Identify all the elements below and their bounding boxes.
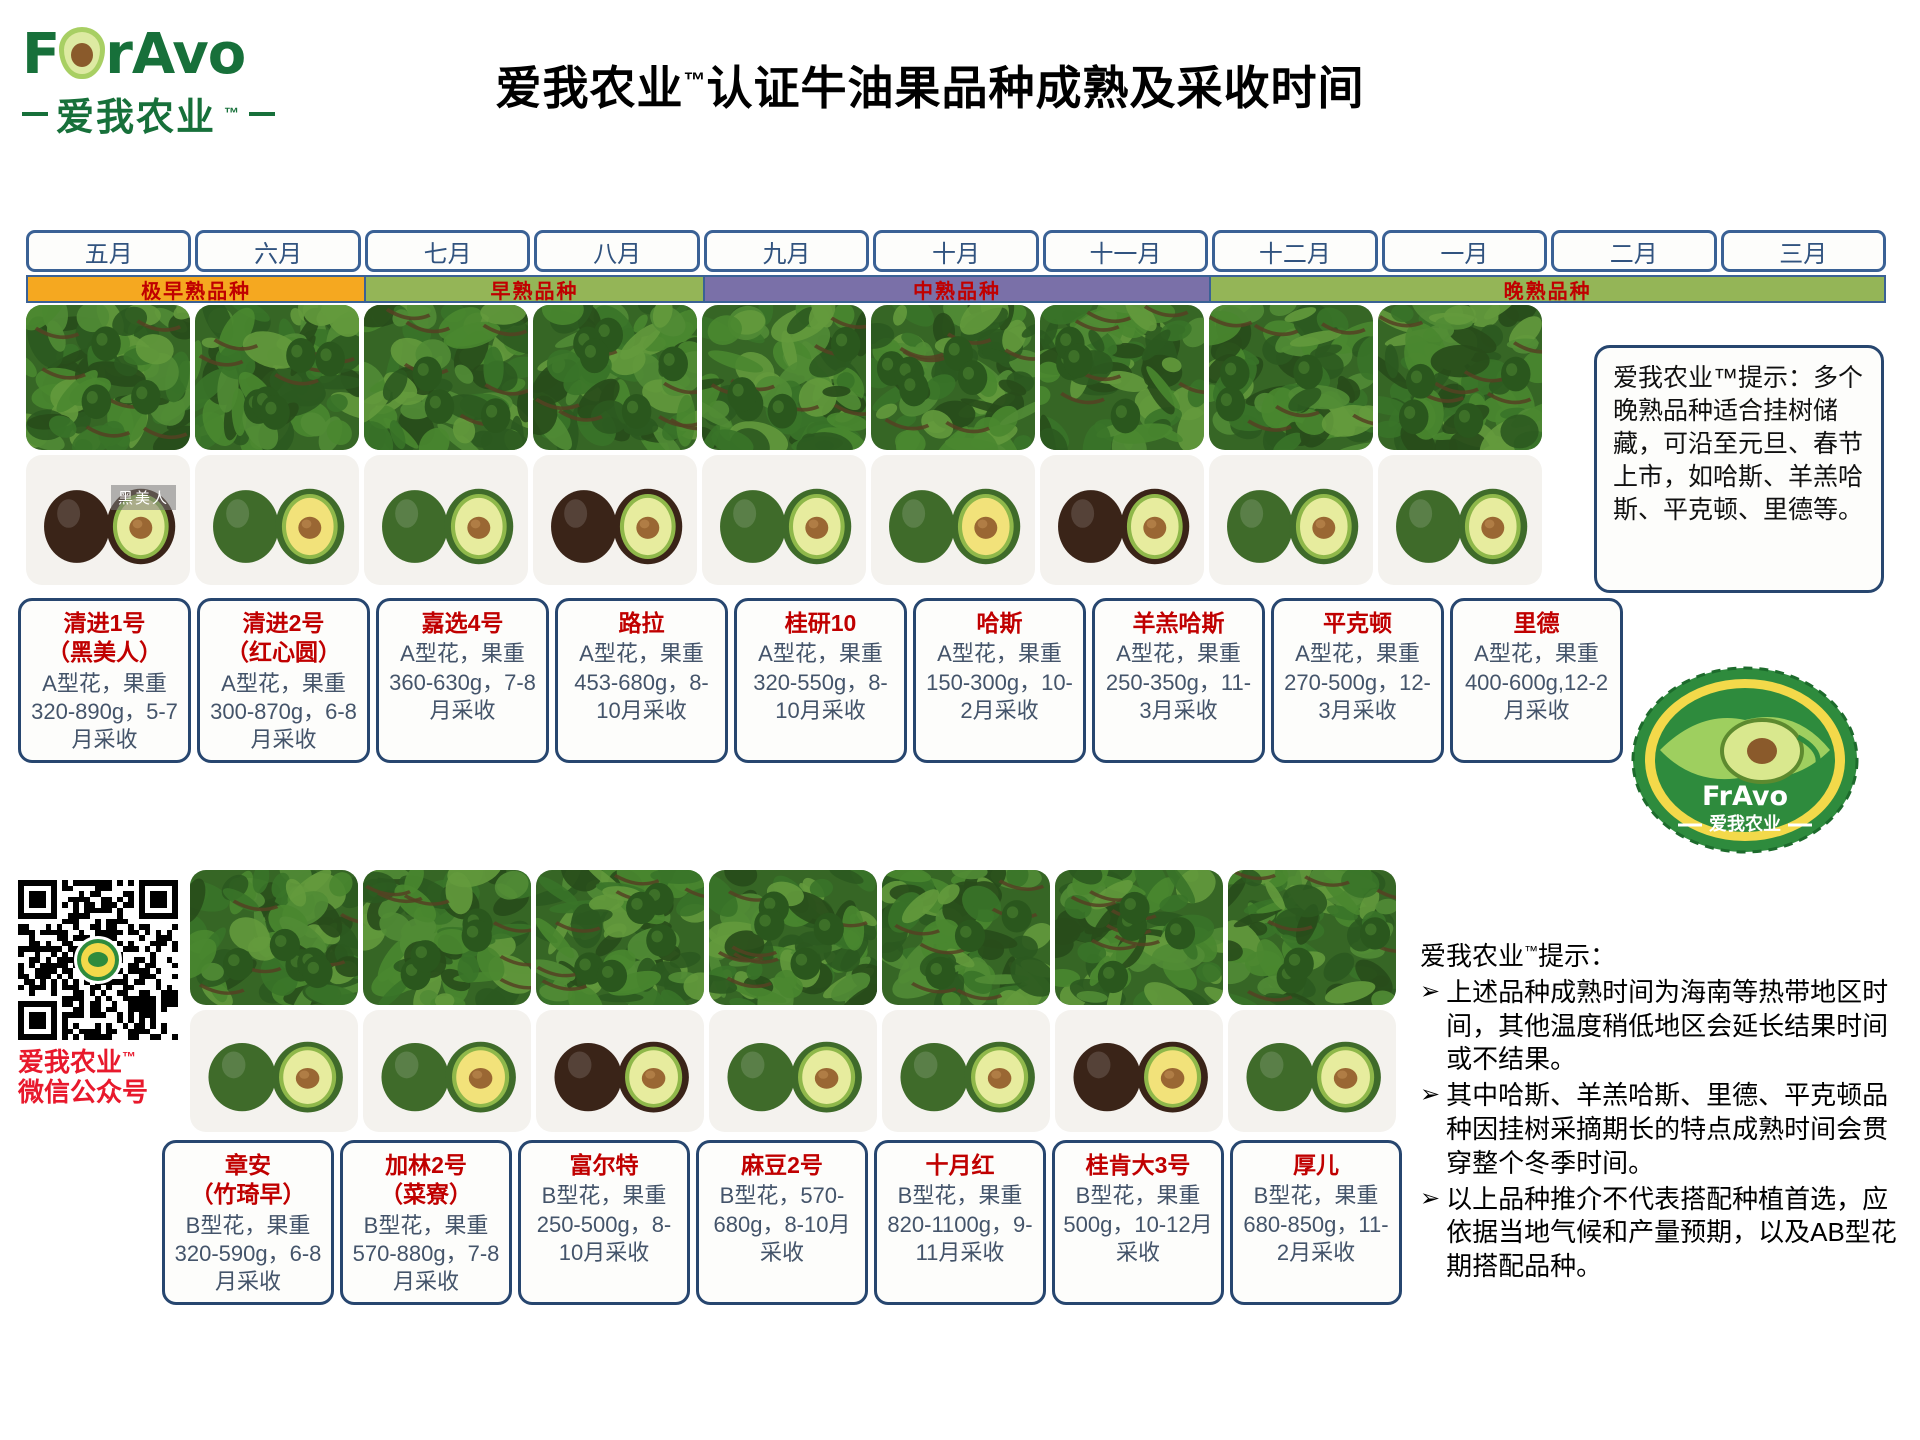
avocado-tree-photo-7 — [1040, 305, 1204, 450]
season-segment: 极早熟品种 — [28, 277, 366, 301]
avocado-fruit-photo-10 — [190, 1010, 358, 1132]
variety-card[interactable]: 麻豆2号B型花，570-680g，8-10月采收 — [696, 1140, 868, 1305]
row2-fruit-photo-strip — [190, 1010, 1396, 1132]
variety-card[interactable]: 嘉选4号A型花，果重360-630g，7-8月采收 — [376, 598, 549, 763]
variety-description: A型花，果重360-630g，7-8月采收 — [385, 640, 540, 724]
variety-card[interactable]: 十月红B型花，果重820-1100g，9-11月采收 — [874, 1140, 1046, 1305]
season-segment: 早熟品种 — [366, 277, 704, 301]
avocado-tree-photo-2 — [195, 305, 359, 450]
badge-graphic: FrAvo 爱我农业 — [1630, 665, 1860, 855]
notes-heading-part1: 爱我农业 — [1420, 941, 1524, 971]
note-text: 上述品种成熟时间为海南等热带地区时间，其他温度稍低地区会延长结果时间或不结果。 — [1446, 976, 1910, 1077]
variety-name: 哈斯 — [922, 609, 1077, 638]
arrow-bullet-icon: ➢ — [1420, 976, 1440, 1077]
variety-alias: （竹琦早） — [171, 1180, 325, 1209]
logo-rule-right — [249, 112, 275, 116]
variety-description: A型花，果重320-890g，5-7月采收 — [27, 670, 182, 754]
arrow-bullet-icon: ➢ — [1420, 1183, 1440, 1284]
variety-description: A型花，果重300-870g，6-8月采收 — [206, 670, 361, 754]
avocado-fruit-photo-14 — [882, 1010, 1050, 1132]
month-header-row: 五月六月七月八月九月十月十一月十二月一月二月三月 — [26, 230, 1886, 272]
variety-description: A型花，果重270-500g，12-3月采收 — [1280, 640, 1435, 724]
variety-card[interactable]: 哈斯A型花，果重150-300g，10-2月采收 — [913, 598, 1086, 763]
wechat-qr-code[interactable] — [18, 880, 178, 1040]
month-cell: 六月 — [195, 230, 360, 272]
avocado-fruit-photo-8 — [1209, 455, 1373, 585]
variety-name: 富尔特 — [527, 1151, 681, 1180]
variety-name: 羊羔哈斯 — [1101, 609, 1256, 638]
variety-alias: （黑美人） — [27, 638, 182, 667]
variety-name: 厚儿 — [1239, 1151, 1393, 1180]
avocado-fruit-photo-4 — [533, 455, 697, 585]
svg-text:爱我农业: 爱我农业 — [1709, 813, 1781, 835]
variety-card[interactable]: 桂肯大3号B型花，果重500g，10-12月采收 — [1052, 1140, 1224, 1305]
avocado-tree-photo-1 — [26, 305, 190, 450]
variety-name: 桂研10 — [743, 609, 898, 638]
notes-heading-tm: ™ — [1524, 942, 1538, 958]
month-cell: 十月 — [873, 230, 1038, 272]
variety-description: B型花，570-680g，8-10月采收 — [705, 1182, 859, 1266]
month-cell: 九月 — [704, 230, 869, 272]
variety-name: 桂肯大3号 — [1061, 1151, 1215, 1180]
month-cell: 八月 — [534, 230, 699, 272]
variety-name: 路拉 — [564, 609, 719, 638]
variety-name: 里德 — [1459, 609, 1614, 638]
variety-name: 章安 — [171, 1151, 325, 1180]
variety-description: A型花，果重150-300g，10-2月采收 — [922, 640, 1077, 724]
avocado-o-icon — [59, 27, 105, 79]
variety-description: B型花，果重820-1100g，9-11月采收 — [883, 1182, 1037, 1266]
note-item: ➢以上品种推介不代表搭配种植首选，应依据当地气候和产量预期，以及AB型花期搭配品… — [1420, 1183, 1910, 1284]
page-title-part1: 爱我农业 — [496, 62, 684, 114]
variety-description: B型花，果重680-850g，11-2月采收 — [1239, 1182, 1393, 1266]
logo-word-post: rAvo — [105, 22, 245, 87]
avocado-fruit-photo-11 — [363, 1010, 531, 1132]
avocado-fruit-photo-7 — [1040, 455, 1204, 585]
logo-wordmark: F rAvo — [22, 26, 292, 84]
avocado-tree-photo-3 — [364, 305, 528, 450]
logo-tm-mark: ™ — [224, 105, 241, 122]
avocado-tree-photo-14 — [882, 870, 1050, 1005]
variety-description: A型花，果重400-600g,12-2月采收 — [1459, 640, 1614, 724]
qr-label-tm: ™ — [122, 1048, 136, 1064]
wechat-qr-block: 爱我农业™ 微信公众号 — [18, 880, 193, 1108]
notes-list: ➢上述品种成熟时间为海南等热带地区时间，其他温度稍低地区会延长结果时间或不结果。… — [1420, 976, 1910, 1284]
row2-variety-card-row: 章安（竹琦早）B型花，果重320-590g，6-8月采收加林2号（菜寮）B型花，… — [162, 1140, 1402, 1305]
note-text: 以上品种推介不代表搭配种植首选，应依据当地气候和产量预期，以及AB型花期搭配品种… — [1446, 1183, 1910, 1284]
avocado-tree-photo-11 — [363, 870, 531, 1005]
variety-card[interactable]: 里德A型花，果重400-600g,12-2月采收 — [1450, 598, 1623, 763]
month-cell: 一月 — [1382, 230, 1547, 272]
avocado-fruit-photo-3 — [364, 455, 528, 585]
arrow-bullet-icon: ➢ — [1420, 1079, 1440, 1180]
avocado-tree-photo-16 — [1228, 870, 1396, 1005]
variety-card[interactable]: 富尔特B型花，果重250-500g，8-10月采收 — [518, 1140, 690, 1305]
row1-variety-card-row: 清进1号（黑美人）A型花，果重320-890g，5-7月采收清进2号（红心圆）A… — [18, 598, 1623, 763]
maturity-season-bar: 极早熟品种早熟品种中熟品种晚熟品种 — [26, 275, 1886, 303]
variety-card[interactable]: 平克顿A型花，果重270-500g，12-3月采收 — [1271, 598, 1444, 763]
notes-heading-part2: 提示： — [1538, 941, 1616, 971]
month-cell: 十二月 — [1212, 230, 1377, 272]
wechat-qr-label: 爱我农业™ 微信公众号 — [18, 1048, 193, 1108]
variety-card[interactable]: 加林2号（菜寮）B型花，果重570-880g，7-8月采收 — [340, 1140, 512, 1305]
svg-text:FrAvo: FrAvo — [1702, 781, 1788, 812]
season-segment: 晚熟品种 — [1211, 277, 1884, 301]
month-cell: 三月 — [1721, 230, 1886, 272]
logo-cn-text: 爱我农业 — [56, 86, 216, 141]
variety-alias: （红心圆） — [206, 638, 361, 667]
avocado-fruit-photo-15 — [1055, 1010, 1223, 1132]
variety-name: 清进1号 — [27, 609, 182, 638]
variety-description: B型花，果重500g，10-12月采收 — [1061, 1182, 1215, 1266]
badge-word-pre: F — [1702, 781, 1719, 812]
variety-name: 清进2号 — [206, 609, 361, 638]
variety-card[interactable]: 桂研10A型花，果重320-550g，8-10月采收 — [734, 598, 907, 763]
variety-card[interactable]: 清进1号（黑美人）A型花，果重320-890g，5-7月采收 — [18, 598, 191, 763]
avocado-fruit-photo-6 — [871, 455, 1035, 585]
page-title: 爱我农业™认证牛油果品种成熟及采收时间 — [330, 52, 1530, 118]
note-item: ➢上述品种成熟时间为海南等热带地区时间，其他温度稍低地区会延长结果时间或不结果。 — [1420, 976, 1910, 1077]
variety-description: A型花，果重250-350g，11-3月采收 — [1101, 640, 1256, 724]
variety-card[interactable]: 路拉A型花，果重453-680g，8-10月采收 — [555, 598, 728, 763]
avocado-tree-photo-5 — [702, 305, 866, 450]
avocado-fruit-photo-12 — [536, 1010, 704, 1132]
season-segment: 中熟品种 — [705, 277, 1212, 301]
variety-alias: （菜寮） — [349, 1180, 503, 1209]
notes-heading: 爱我农业™提示： — [1420, 940, 1910, 974]
variety-name: 嘉选4号 — [385, 609, 540, 638]
logo-word-pre: F — [22, 22, 59, 87]
month-cell: 二月 — [1551, 230, 1716, 272]
row2-tree-photo-strip — [190, 870, 1396, 1005]
avocado-fruit-photo-2 — [195, 455, 359, 585]
avocado-fruit-photo-16 — [1228, 1010, 1396, 1132]
avocado-tree-photo-12 — [536, 870, 704, 1005]
variety-description: B型花，果重570-880g，7-8月采收 — [349, 1212, 503, 1296]
variety-card[interactable]: 羊羔哈斯A型花，果重250-350g，11-3月采收 — [1092, 598, 1265, 763]
brand-logo: F rAvo 爱我农业™ — [22, 26, 292, 146]
variety-card[interactable]: 章安（竹琦早）B型花，果重320-590g，6-8月采收 — [162, 1140, 334, 1305]
month-cell: 五月 — [26, 230, 191, 272]
variety-description: A型花，果重320-550g，8-10月采收 — [743, 640, 898, 724]
variety-name: 加林2号 — [349, 1151, 503, 1180]
late-variety-tip-box: 爱我农业™提示：多个晚熟品种适合挂树储藏，可沿至元旦、春节上市，如哈斯、羊羔哈斯… — [1594, 345, 1884, 593]
variety-description: B型花，果重250-500g，8-10月采收 — [527, 1182, 681, 1266]
avocado-fruit-photo-9 — [1378, 455, 1542, 585]
avocado-fruit-photo-1: 黑美人 — [26, 455, 190, 585]
note-text: 其中哈斯、羊羔哈斯、里德、平克顿品种因挂树采摘期长的特点成熟时间会贯穿整个冬季时… — [1446, 1079, 1910, 1180]
footer-notes: 爱我农业™提示： ➢上述品种成熟时间为海南等热带地区时间，其他温度稍低地区会延长… — [1420, 940, 1910, 1286]
variety-card[interactable]: 厚儿B型花，果重680-850g，11-2月采收 — [1230, 1140, 1402, 1305]
avocado-tree-photo-15 — [1055, 870, 1223, 1005]
note-item: ➢其中哈斯、羊羔哈斯、里德、平克顿品种因挂树采摘期长的特点成熟时间会贯穿整个冬季… — [1420, 1079, 1910, 1180]
tip-box-text: 爱我农业™提示：多个晚熟品种适合挂树储藏，可沿至元旦、春节上市，如哈斯、羊羔哈斯… — [1613, 364, 1863, 524]
variety-card[interactable]: 清进2号（红心圆）A型花，果重300-870g，6-8月采收 — [197, 598, 370, 763]
foravo-round-badge: FrAvo 爱我农业 — [1630, 665, 1860, 855]
page-title-tm: ™ — [684, 68, 707, 93]
avocado-tree-photo-8 — [1209, 305, 1373, 450]
avocado-tree-photo-9 — [1378, 305, 1542, 450]
page-title-part2: 认证牛油果品种成熟及采收时间 — [707, 62, 1365, 114]
avocado-tree-photo-4 — [533, 305, 697, 450]
avocado-tree-photo-13 — [709, 870, 877, 1005]
variety-description: A型花，果重453-680g，8-10月采收 — [564, 640, 719, 724]
month-cell: 十一月 — [1043, 230, 1208, 272]
variety-description: B型花，果重320-590g，6-8月采收 — [171, 1212, 325, 1296]
avocado-tree-photo-10 — [190, 870, 358, 1005]
avocado-tree-photo-6 — [871, 305, 1035, 450]
logo-chinese-name: 爱我农业™ — [22, 86, 292, 141]
row1-fruit-photo-strip: 黑美人 — [26, 455, 1542, 585]
logo-rule-left — [22, 112, 48, 116]
row1-tree-photo-strip — [26, 305, 1542, 450]
avocado-fruit-photo-5 — [702, 455, 866, 585]
month-cell: 七月 — [365, 230, 530, 272]
variety-name: 麻豆2号 — [705, 1151, 859, 1180]
harvest-timeline: 五月六月七月八月九月十月十一月十二月一月二月三月 极早熟品种早熟品种中熟品种晚熟… — [26, 230, 1886, 303]
variety-name: 平克顿 — [1280, 609, 1435, 638]
avocado-fruit-photo-13 — [709, 1010, 877, 1132]
variety-name: 十月红 — [883, 1151, 1037, 1180]
qr-label-line1: 爱我农业 — [18, 1047, 122, 1077]
page-header: F rAvo 爱我农业™ 爱我农业™认证牛油果品种成熟及采收时间 — [0, 0, 1920, 165]
qr-label-line2: 微信公众号 — [18, 1077, 148, 1107]
fruit-photo-caption: 黑美人 — [111, 485, 176, 510]
